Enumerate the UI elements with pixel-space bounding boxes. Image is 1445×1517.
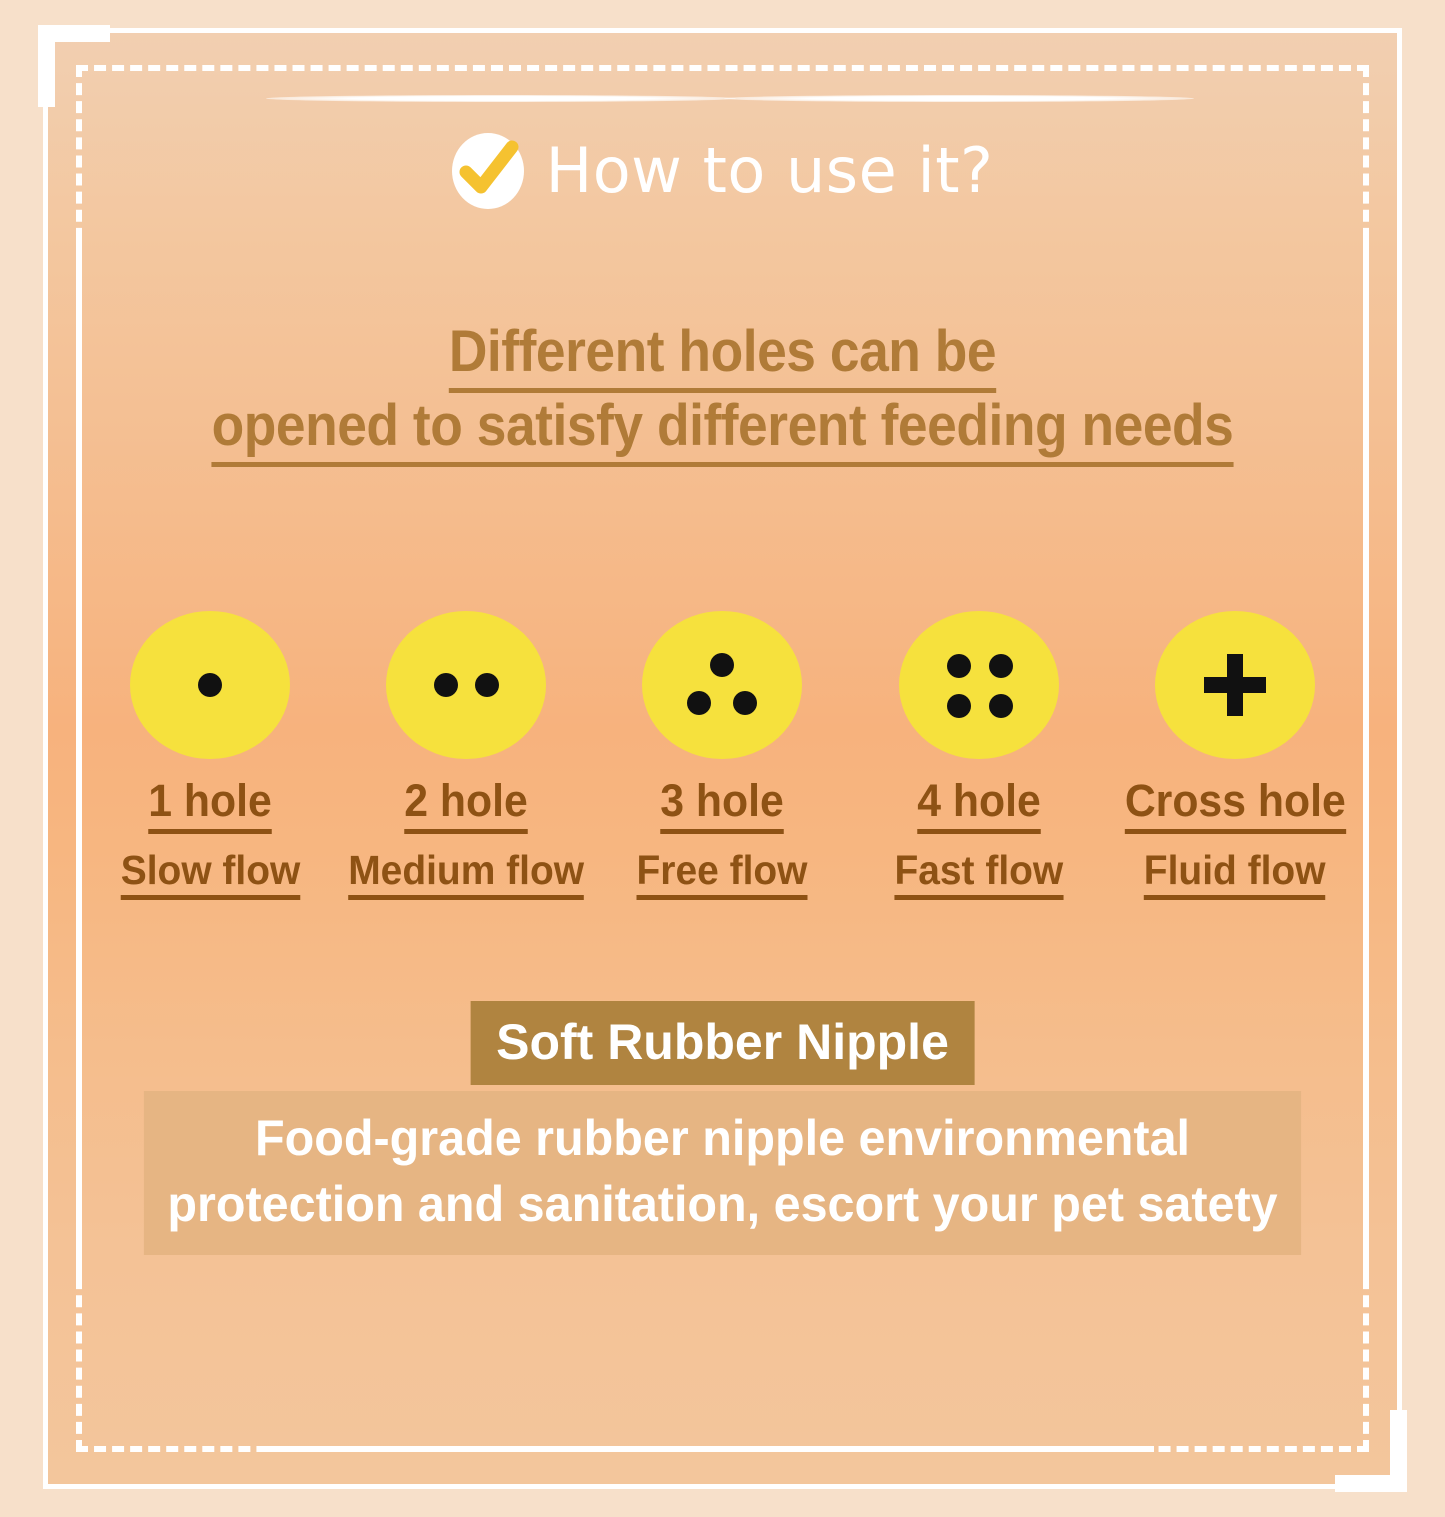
hole-dot	[687, 691, 711, 715]
header: How to use it?	[48, 121, 1397, 221]
hole-dot	[947, 694, 971, 718]
hole-item-4: 4 hole Fast flow	[858, 611, 1098, 900]
nipple-disc-4-hole	[899, 611, 1059, 759]
nipple-disc-1-hole	[130, 611, 290, 759]
headline-line-2-text: opened to satisfy different feeding need…	[212, 393, 1234, 467]
hole-dot	[733, 691, 757, 715]
check-mark-icon	[456, 139, 520, 203]
hole-label: 1 hole	[148, 777, 272, 834]
cross-hole-icon-horizontal	[1204, 677, 1266, 693]
page-title: How to use it?	[546, 140, 994, 202]
hole-label: Cross hole	[1124, 777, 1345, 834]
hole-flow-label: Fast flow	[894, 848, 1063, 900]
headline-line-1: Different holes can be	[102, 315, 1343, 389]
hole-label: 4 hole	[917, 777, 1041, 834]
nipple-disc-3-hole	[642, 611, 802, 759]
hole-flow-label: Slow flow	[120, 848, 300, 900]
corner-bracket-bottom-right-vertical	[1390, 1410, 1407, 1492]
hole-flow-label: Fluid flow	[1144, 848, 1326, 900]
hole-dot	[198, 673, 222, 697]
check-circle-icon	[452, 133, 524, 209]
hole-dot	[989, 654, 1013, 678]
feature-title-banner: Soft Rubber Nipple	[470, 1001, 975, 1085]
hole-label: 2 hole	[405, 777, 529, 834]
hole-dot	[710, 653, 734, 677]
feature-description-banner: Food-grade rubber nipple environmental p…	[144, 1091, 1301, 1255]
hole-dot	[475, 673, 499, 697]
hole-dot	[989, 694, 1013, 718]
hole-item-3: 3 hole Free flow	[602, 611, 842, 900]
feature-description-line-1: Food-grade rubber nipple environmental	[154, 1105, 1292, 1171]
holes-row: 1 hole Slow flow 2 hole Medium flow 3 ho…	[90, 611, 1355, 900]
decorative-line-right	[724, 95, 1194, 102]
hole-label: 3 hole	[661, 777, 785, 834]
corner-bracket-top-left-vertical	[38, 25, 55, 107]
hole-item-2: 2 hole Medium flow	[346, 611, 586, 900]
headline-line-1-text: Different holes can be	[449, 319, 996, 393]
hole-item-1: 1 hole Slow flow	[90, 611, 330, 900]
hole-item-cross: Cross hole Fluid flow	[1115, 611, 1355, 900]
decorative-line-left	[266, 95, 736, 102]
nipple-disc-cross-hole	[1155, 611, 1315, 759]
feature-description-line-2: protection and sanitation, escort your p…	[154, 1171, 1292, 1237]
headline: Different holes can be opened to satisfy…	[48, 315, 1397, 463]
hole-flow-label: Medium flow	[348, 848, 584, 900]
inner-frame-edge-bottom	[264, 1446, 1154, 1452]
headline-line-2: opened to satisfy different feeding need…	[102, 389, 1343, 463]
infographic-poster: How to use it? Different holes can be op…	[0, 0, 1445, 1517]
hole-dot	[434, 673, 458, 697]
hole-dot	[947, 654, 971, 678]
content-panel: How to use it? Different holes can be op…	[48, 33, 1397, 1484]
nipple-disc-2-hole	[386, 611, 546, 759]
hole-flow-label: Free flow	[637, 848, 808, 900]
